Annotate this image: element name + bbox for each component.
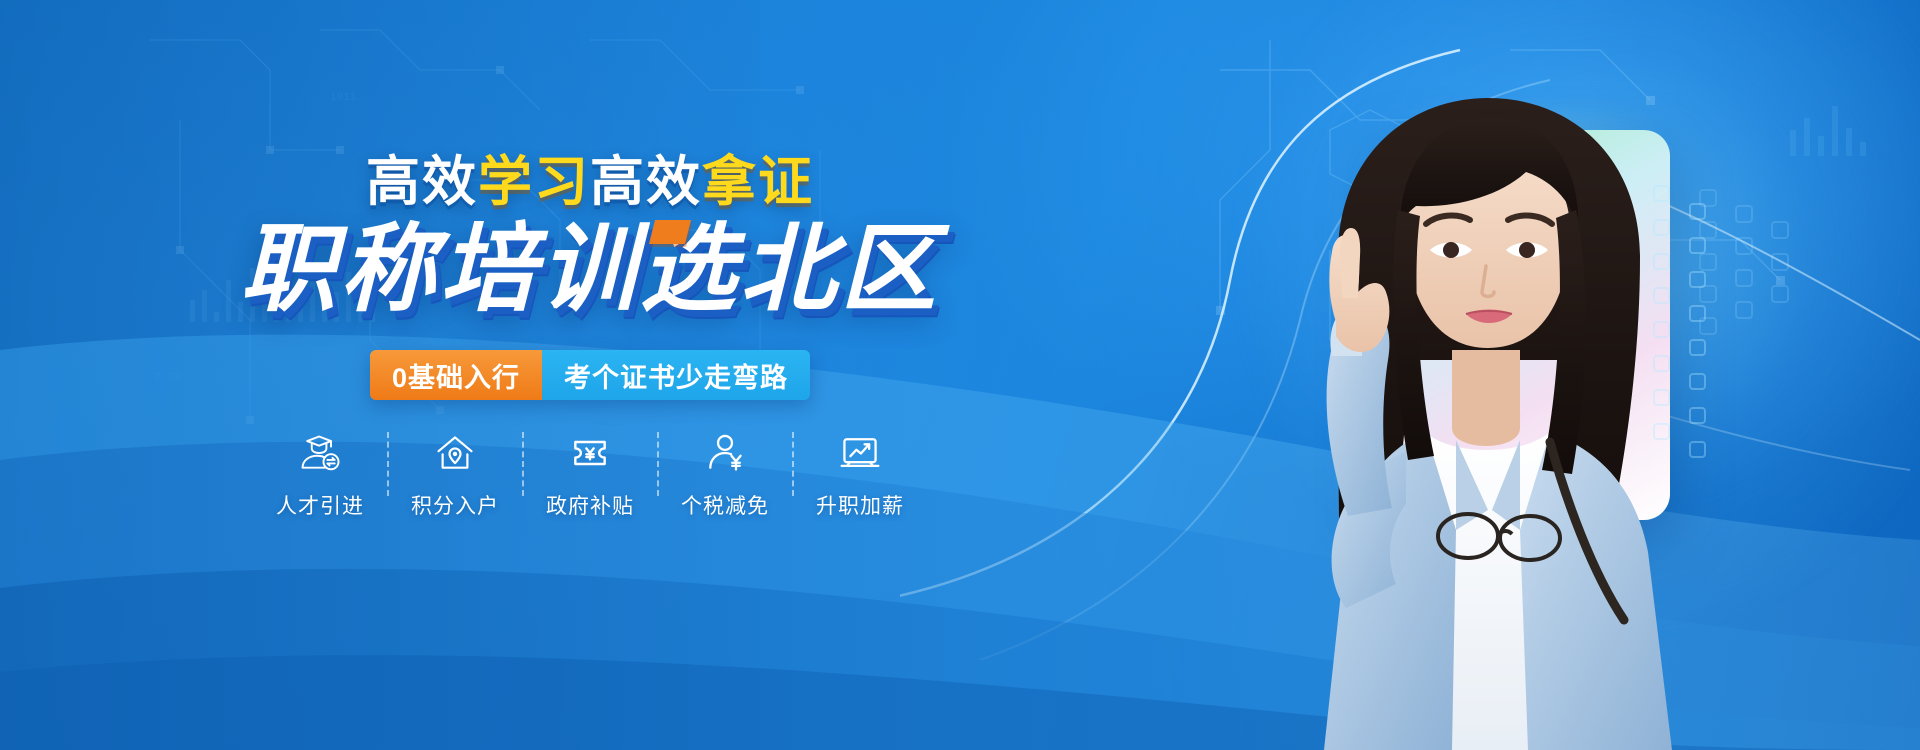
sub-headline-part-2: 学习 [478,152,590,212]
feature-label: 政府补贴 [546,490,634,520]
feature-item-tax-reduction[interactable]: 个税减免 [659,430,792,520]
main-headline-text: 职称培训选北区 [240,216,940,323]
sub-headline-part-1: 高效 [366,152,478,212]
feature-label: 人才引进 [276,490,364,520]
sub-headline: 高效学习高效拿证 [0,155,1180,209]
sub-headline-part-4: 拿证 [702,152,814,212]
feature-label: 个税减免 [681,490,769,520]
feature-label: 积分入户 [411,490,499,520]
feature-item-promotion-raise[interactable]: 升职加薪 [794,430,927,520]
main-headline: 职称培训选北区 [0,222,1180,318]
feature-list: 人才引进 积分入户 [0,430,1180,520]
promo-banner: 2 2910110110 [0,0,1920,750]
banner-content: 高效学习高效拿证 职称培训选北区 0基础入行 考个证书少走弯路 [0,0,1180,750]
sub-headline-part-3: 高效 [590,152,702,212]
feature-item-talent-introduction[interactable]: 人才引进 [254,430,387,520]
tagline-text: 考个证书少走弯路 [542,350,810,400]
businesswoman-illustration [1220,60,1780,750]
chart-board-icon [838,430,882,476]
feature-item-points-residency[interactable]: 积分入户 [389,430,522,520]
feature-item-government-subsidy[interactable]: 政府补贴 [524,430,657,520]
feature-label: 升职加薪 [816,490,904,520]
house-pin-icon [433,430,477,476]
coupon-yuan-icon [568,430,612,476]
tagline-pill: 0基础入行 考个证书少走弯路 [370,350,810,400]
tagline-row: 0基础入行 考个证书少走弯路 [0,350,1180,400]
graduate-person-icon [298,430,342,476]
tagline-badge: 0基础入行 [370,350,542,400]
person-yuan-icon [703,430,747,476]
orange-accent-mark [649,220,691,244]
